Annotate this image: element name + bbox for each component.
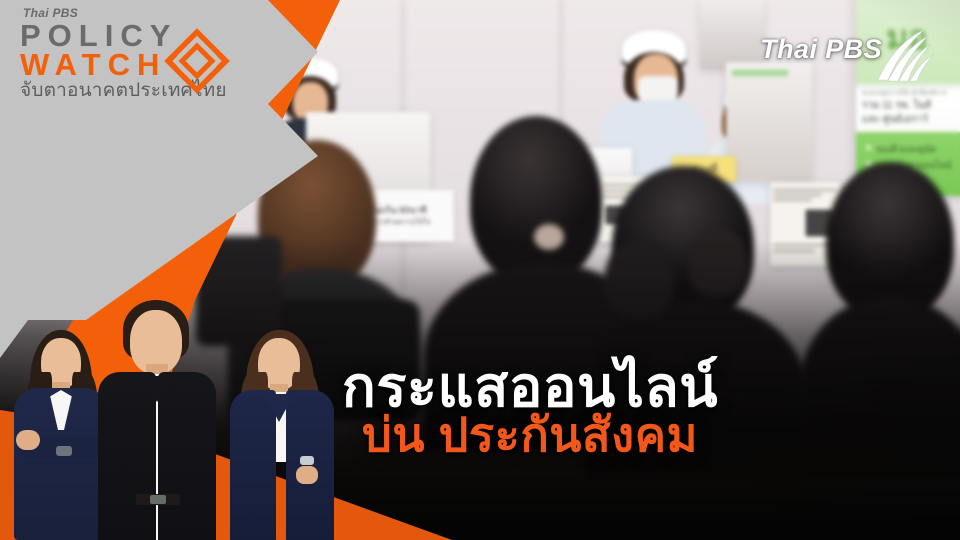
hand <box>296 466 318 484</box>
diamond-mark-icon <box>160 24 234 98</box>
thaipbs-watermark: Thai PBS <box>754 30 944 86</box>
video-thumbnail: มอ สะดวกทุกการใช้ เข้าถึงบริการ รวม 11 ร… <box>0 0 960 540</box>
watermark-label: Thai PBS <box>760 34 882 65</box>
headline-line1: กระแสออนไลน์ <box>0 358 960 415</box>
headline-line2: บ่น ประกันสังคม <box>0 411 960 460</box>
thaipbs-swoosh-icon <box>874 28 936 84</box>
belt-buckle <box>150 495 166 504</box>
headline-block: กระแสออนไลน์ บ่น ประกันสังคม <box>0 358 960 460</box>
